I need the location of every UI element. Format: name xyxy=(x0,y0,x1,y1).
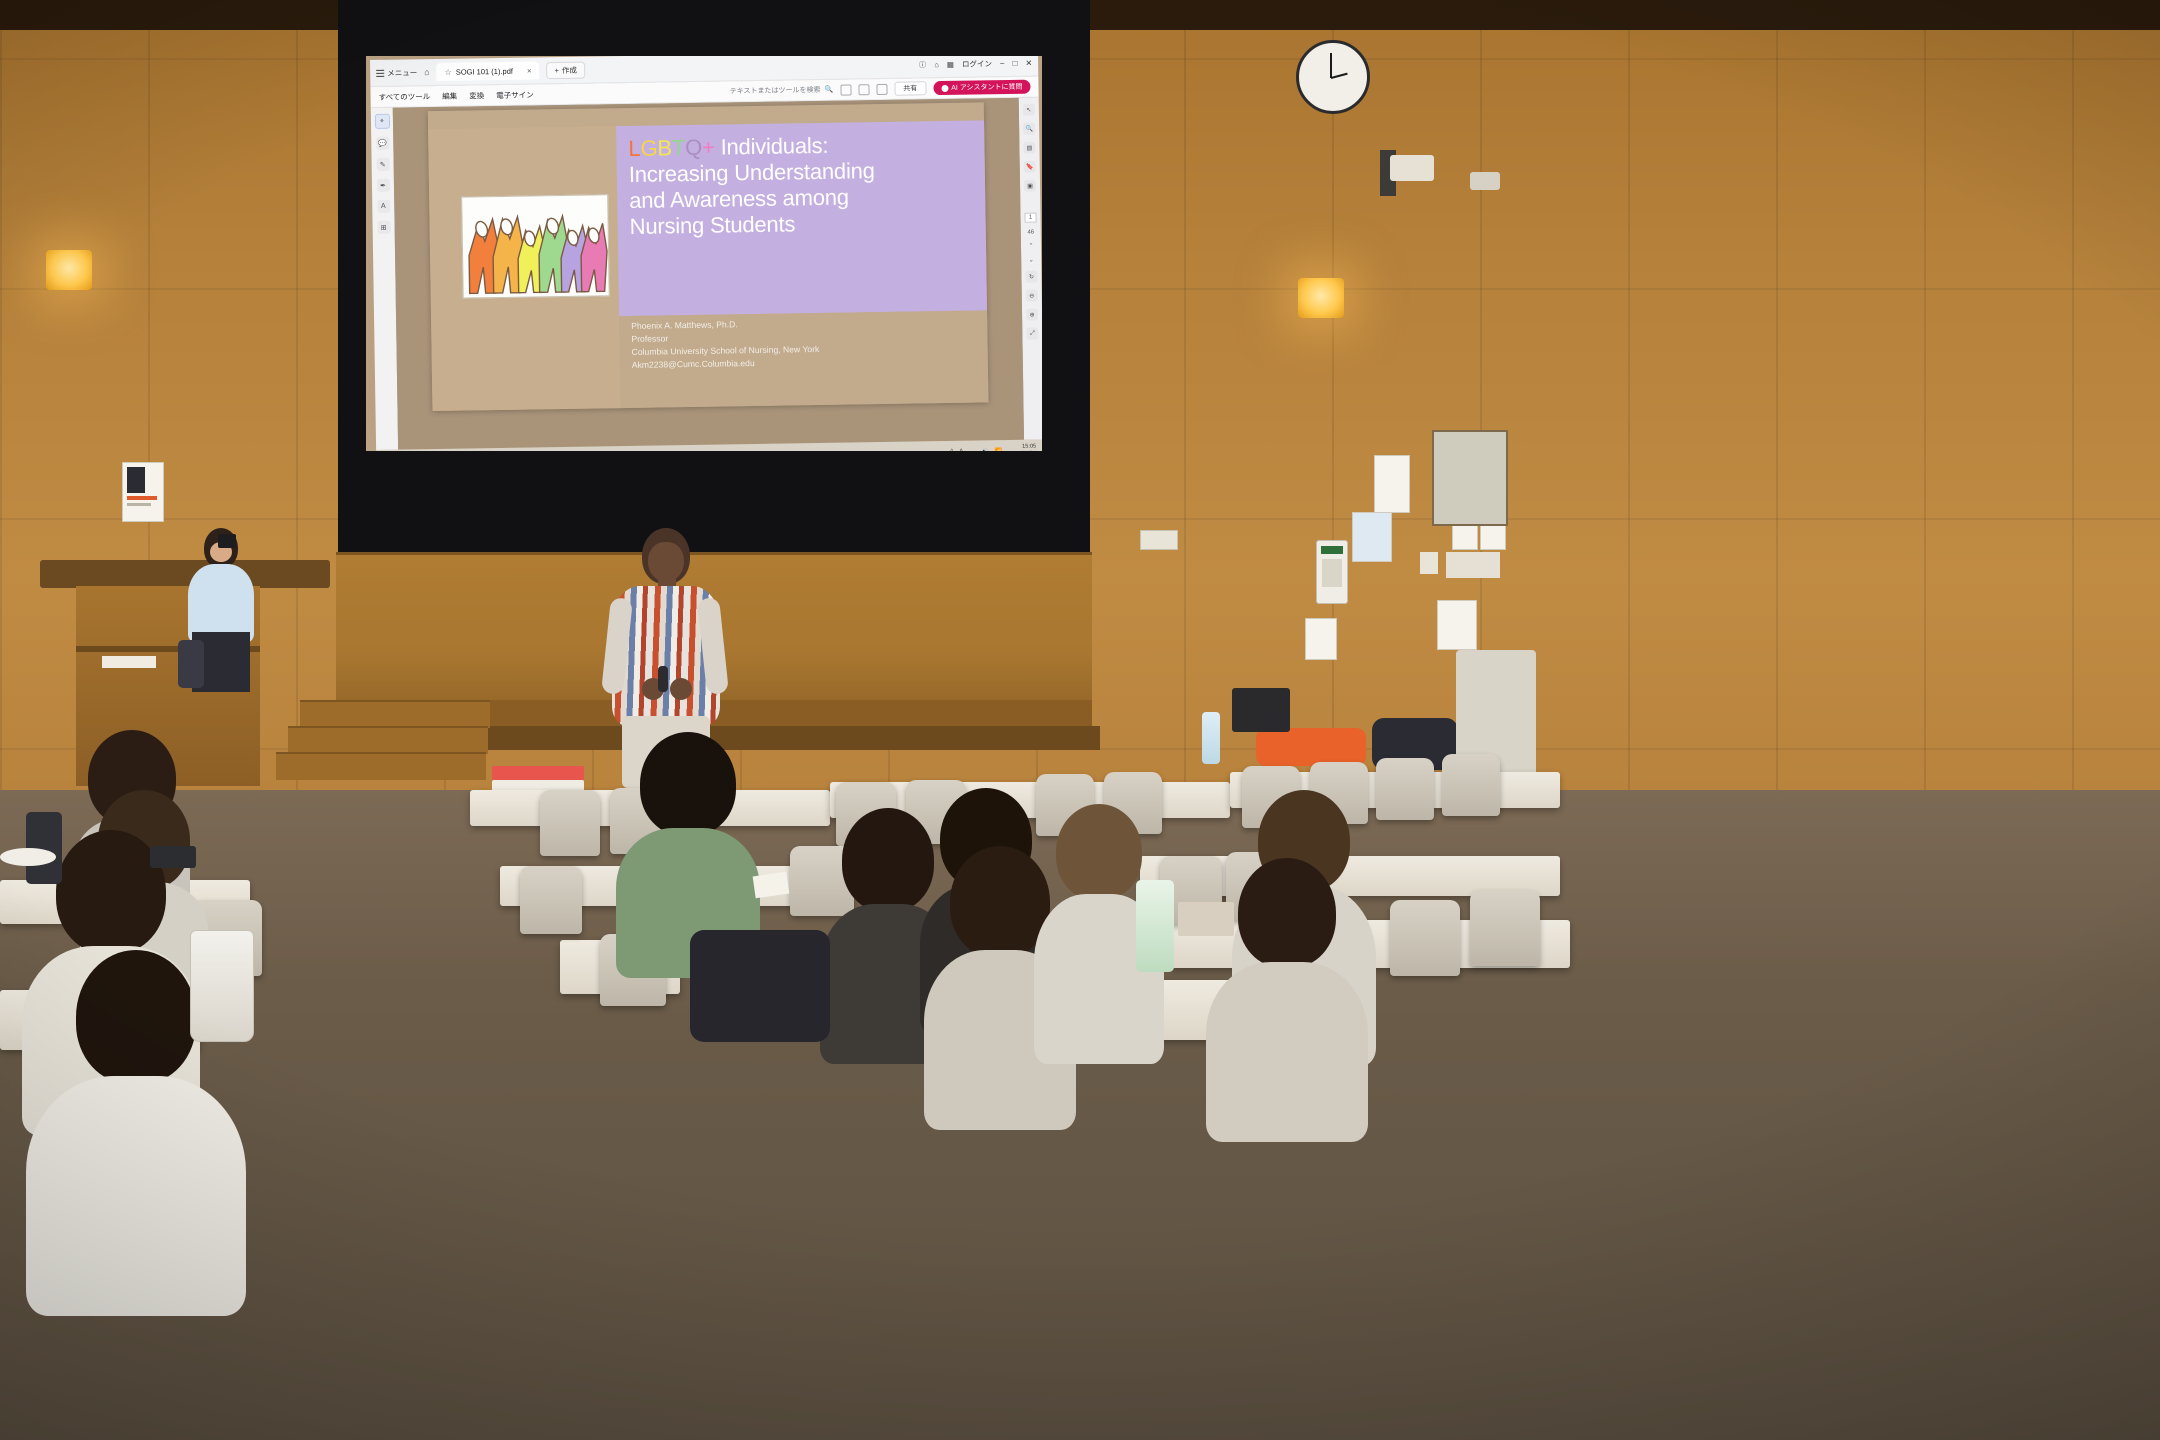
wall-phone xyxy=(1316,540,1348,604)
plus-icon: + xyxy=(555,66,560,75)
cursor-icon[interactable]: ↖ xyxy=(1023,104,1035,116)
acrobat-body: ⌖ 💬 ✎ ✒ A ⊞ xyxy=(371,98,1042,450)
presenter-face xyxy=(648,542,684,582)
comment-icon[interactable]: 💬 xyxy=(376,137,389,150)
upload-icon[interactable] xyxy=(858,84,869,95)
title-rest: Individuals: xyxy=(714,133,828,160)
notice-poster-right-1 xyxy=(1374,455,1410,513)
notice-poster-left xyxy=(122,462,164,522)
audience-member-10 xyxy=(1238,858,1336,968)
ai-assistant-button[interactable]: AI アシスタントに質問 xyxy=(933,80,1030,96)
notice-poster-right-6 xyxy=(1305,618,1337,660)
title-letter-T: T xyxy=(672,135,686,160)
zoom-in-icon[interactable]: ⊕ xyxy=(1026,309,1038,321)
tray-ime-icon[interactable]: A xyxy=(959,449,963,451)
title-letter-Q: Q xyxy=(685,135,702,160)
nav-up-icon[interactable]: ⌃ xyxy=(1028,243,1033,250)
wall-switch-plate-1 xyxy=(1140,530,1178,550)
bell-icon[interactable]: ⌂ xyxy=(934,60,939,69)
comment-icon[interactable] xyxy=(876,83,887,94)
presenter-hand-right xyxy=(670,678,692,700)
wall-clock xyxy=(1296,40,1370,114)
slide-byline: Phoenix A. Matthews, Ph.D. Professor Col… xyxy=(631,315,962,372)
tab-close-icon[interactable]: × xyxy=(527,66,532,75)
audience-member-5 xyxy=(842,808,934,912)
audience-member-8 xyxy=(1056,804,1142,900)
speaker-cabinet xyxy=(1232,688,1290,732)
draw-icon[interactable]: ✒ xyxy=(376,179,389,192)
title-line-4: Nursing Students xyxy=(629,208,981,240)
close-button[interactable]: ✕ xyxy=(1025,58,1032,67)
paper-on-desk xyxy=(753,872,790,899)
audience-member-11 xyxy=(76,950,196,1084)
tool-esign[interactable]: 電子サイン xyxy=(496,89,534,101)
title-letter-B: B xyxy=(657,135,672,160)
taskbar-clock[interactable]: 15:05 2025/06/24 xyxy=(1008,444,1036,451)
fit-page-icon[interactable]: ⤢ xyxy=(1026,328,1038,340)
menu-label: メニュー xyxy=(387,67,417,78)
wall-lamp-right xyxy=(1298,278,1344,318)
highlight-icon[interactable]: ✎ xyxy=(376,158,389,171)
window-panel xyxy=(1432,430,1508,526)
pdf-page-area[interactable]: LGBTQ+ Individuals: Increasing Understan… xyxy=(393,98,1024,450)
text-box-icon[interactable]: A xyxy=(377,200,390,213)
notice-poster-right-2 xyxy=(1352,512,1392,562)
help-icon[interactable]: ⓘ xyxy=(919,59,927,70)
camera-operator-torso xyxy=(188,564,254,642)
tumbler-cup xyxy=(190,930,254,1042)
page-view-icon[interactable] xyxy=(840,84,851,95)
stamp-icon[interactable]: ⊞ xyxy=(377,221,390,234)
chair-17 xyxy=(1470,890,1540,966)
acrobat-window: メニュー ⌂ ☆ SOGI 101 (1).pdf × + 作成 ⓘ ⌂ ▦ ロ… xyxy=(370,56,1042,448)
podium-papers xyxy=(102,656,156,668)
title-letter-plus: + xyxy=(702,135,715,160)
slide-title: LGBTQ+ Individuals: Increasing Understan… xyxy=(628,130,982,240)
lecture-hall-scene: メニュー ⌂ ☆ SOGI 101 (1).pdf × + 作成 ⓘ ⌂ ▦ ロ… xyxy=(0,0,2160,1440)
pdf-slide: LGBTQ+ Individuals: Increasing Understan… xyxy=(428,102,989,411)
tab-label: SOGI 101 (1).pdf xyxy=(456,66,513,76)
zoom-out-icon[interactable]: ⊖ xyxy=(1026,290,1038,302)
backpack-foreground xyxy=(690,930,830,1042)
select-tool-icon[interactable]: ⌖ xyxy=(374,114,389,129)
login-label[interactable]: ログイン xyxy=(962,58,992,69)
books-on-stage xyxy=(492,766,584,780)
apps-grid-icon[interactable]: ▦ xyxy=(947,59,954,68)
tool-edit[interactable]: 編集 xyxy=(442,90,457,101)
search-icon[interactable]: 🔍 xyxy=(824,86,833,94)
minimize-button[interactable]: − xyxy=(1000,59,1005,68)
page-total: 46 xyxy=(1027,230,1034,236)
camera-operator-bag xyxy=(178,640,204,688)
new-tab-button[interactable]: + 作成 xyxy=(546,61,585,79)
thumbnail-icon[interactable]: ▤ xyxy=(1023,142,1035,154)
tool-convert[interactable]: 変換 xyxy=(469,90,484,101)
wall-speaker xyxy=(1390,155,1434,181)
chair-16 xyxy=(1390,900,1460,976)
clock-time: 15:05 xyxy=(1022,444,1036,450)
all-tools-button[interactable]: すべてのツール xyxy=(378,91,430,103)
phone-on-desk xyxy=(150,846,196,868)
tray-network-icon[interactable]: 📶 xyxy=(995,448,1003,451)
search-placeholder: テキストまたはツールを検索 xyxy=(730,85,821,96)
ai-sparkle-icon xyxy=(941,84,948,91)
ceiling-projector-mount xyxy=(1470,172,1500,190)
rainbow-people-illustration xyxy=(461,194,610,298)
chair-10 xyxy=(1442,754,1500,816)
title-letter-G: G xyxy=(640,135,657,160)
search-input[interactable]: テキストまたはツールを検索 🔍 xyxy=(730,85,834,97)
small-plate xyxy=(0,848,56,866)
drink-bottle-right xyxy=(1136,880,1174,972)
nav-down-icon[interactable]: ⌄ xyxy=(1029,257,1034,264)
wall-switch-plate-2 xyxy=(1420,552,1438,574)
star-icon[interactable]: ☆ xyxy=(445,67,452,76)
document-tab[interactable]: ☆ SOGI 101 (1).pdf × xyxy=(436,61,539,81)
notice-poster-right-5 xyxy=(1437,600,1477,650)
orange-jacket xyxy=(1256,728,1366,766)
audience-member-4 xyxy=(640,732,736,836)
layers-icon[interactable]: ▣ xyxy=(1024,180,1036,192)
maximize-button[interactable]: □ xyxy=(1013,58,1018,67)
wall-lamp-left xyxy=(46,250,92,290)
home-icon[interactable]: ⌂ xyxy=(424,67,430,77)
ai-assistant-label: AI アシスタントに質問 xyxy=(951,82,1022,93)
chair-9 xyxy=(1376,758,1434,820)
tray-cloud-icon[interactable]: ☁ xyxy=(969,448,975,451)
page-number[interactable]: 1 xyxy=(1025,213,1036,223)
menu-button[interactable]: メニュー xyxy=(376,67,417,79)
hamburger-icon xyxy=(376,69,384,76)
rotate-icon[interactable]: ↻ xyxy=(1025,271,1037,283)
search-page-icon[interactable]: 🔍 xyxy=(1023,123,1035,135)
chair-1 xyxy=(540,790,600,856)
water-bottle xyxy=(1202,712,1220,764)
chair-11 xyxy=(520,866,582,934)
wall-switch-plate-3 xyxy=(1446,552,1500,578)
title-letter-L: L xyxy=(628,136,640,161)
tray-chevron-icon[interactable]: ^ xyxy=(950,449,953,451)
microphone xyxy=(658,666,668,692)
tray-volume-icon[interactable]: 🔊 xyxy=(981,448,989,451)
audience-member-7 xyxy=(950,846,1050,958)
camera-operator xyxy=(178,520,273,710)
share-button[interactable]: 共有 xyxy=(894,81,926,96)
projection-screen: メニュー ⌂ ☆ SOGI 101 (1).pdf × + 作成 ⓘ ⌂ ▦ ロ… xyxy=(366,56,1042,451)
camera-device xyxy=(218,534,236,548)
new-tab-label: 作成 xyxy=(562,64,577,75)
bookmark-icon[interactable]: 🔖 xyxy=(1024,161,1036,173)
taskbar-tray: ^ A ☁ 🔊 📶 15:05 2025/06/24 xyxy=(950,444,1036,451)
notebook-on-desk xyxy=(1178,902,1234,936)
